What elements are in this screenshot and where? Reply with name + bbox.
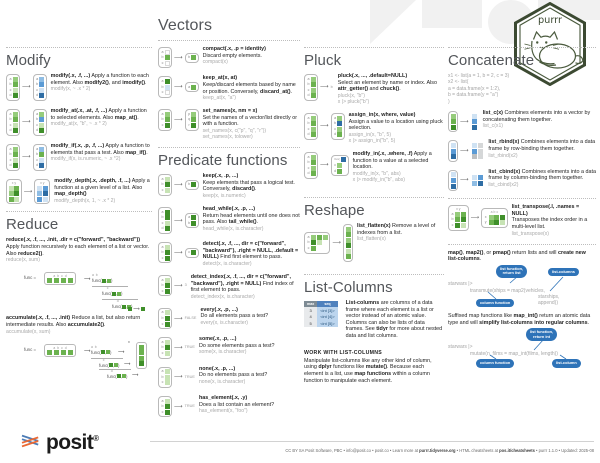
entry-modify: abcd ⟶ abcd modify(.x, .f, ...) Apply a …: [6, 73, 152, 101]
fn-desc: Do some elements pass a test?: [199, 343, 275, 349]
diagram-modify-in: abcd ⟶ fun(cd: [304, 151, 349, 179]
figure-out-label: x: [128, 339, 130, 345]
entry-text: modify_at(.x, .at, .f, ...) Apply a func…: [51, 108, 152, 127]
fn-signature: modify(.x, .f, ...): [51, 73, 91, 79]
fn-example-2: x |> modify_in("b", abs): [353, 177, 444, 183]
diagram-list-transpose: xy a b c ⟶ abc x y: [448, 204, 508, 230]
fn-signature: list_cbind(x): [488, 169, 520, 175]
fn-desc: Do no elements pass a test?: [199, 372, 267, 378]
entry-text: has_element(.x, .y)Does a list contain a…: [199, 395, 300, 414]
fn-desc: Set the names of a vector/list directly …: [203, 115, 297, 128]
concatenate-preamble: x1 <- list(a = 1, b = 2, c = 3) x2 <- li…: [448, 73, 596, 105]
fn-signature: list_c(x): [483, 110, 503, 116]
fn-example: modify_if(x, is.numeric, ~ .x *2): [51, 156, 152, 162]
entry-text: detect(.x, .f, ..., dir = c("forward", "…: [203, 241, 300, 267]
fn-signature: set_names(x, nm = x): [203, 108, 258, 114]
diagram-every: abc ⟶ FALSE: [158, 307, 196, 329]
diagram-output: TRUE: [185, 404, 195, 409]
entry-text: list_c(x) Combines elements into a vecto…: [483, 110, 596, 129]
fn-signature: list_rbind(x): [488, 139, 519, 145]
fn-example: modify_at(x, "b", ~ .x * 2): [51, 121, 152, 127]
entry-list-cbind: ⟶ list_cbind(x) Combines elements into a…: [448, 169, 596, 191]
arrow-icon: ⟶: [174, 84, 183, 90]
entry-detect: abc ⟶ c detect(.x, .f, ..., dir = c("for…: [158, 241, 300, 267]
arrow-icon: ⟶: [471, 215, 480, 221]
section-title-vectors: Vectors: [158, 18, 300, 33]
fn-desc2: .: [104, 322, 106, 328]
fn-desc2: .: [255, 186, 257, 192]
fn-example-2: set_names(x, tolower): [203, 134, 300, 140]
footer-license: CC BY SA Posit Software, PBC: [285, 448, 342, 453]
fn-desc2: .: [291, 89, 293, 95]
fn-example: list_c(x1): [483, 123, 596, 129]
fn-example: head_while(x, is.character): [203, 226, 300, 232]
table-row: 5 <int [5]>: [304, 320, 338, 327]
divider: [158, 147, 300, 148]
diagram-list-flatten: a b c ⟶: [304, 223, 353, 262]
work-text-2: functions like: [332, 364, 366, 370]
fn-ref: reduce2(): [18, 251, 42, 257]
fn-example: modify_depth(x, 1, ~ .x * 2): [54, 198, 152, 204]
fn-signature: list_flatten(x): [357, 223, 391, 229]
cell-max: 4: [304, 314, 317, 321]
arrow-icon: ⟶: [460, 177, 469, 183]
entry-modify-at: abcd ⟶ abcd modify_at(.x, .at, .f, ...) …: [6, 108, 152, 136]
fn-signature: pluck(.x, ..., .default=NULL): [338, 73, 407, 79]
diagram-detect-index: abc ⟶ 3: [158, 274, 187, 296]
entry-text: modify_depth(.x, .depth, .f, ...) Apply …: [54, 178, 152, 204]
fn-example: none(x, is.character): [199, 379, 300, 385]
listcolumns-table: max seq 3 <int [3]> 4 <int [4]> 5 <int […: [304, 301, 338, 327]
diagram-detect: abc ⟶ c: [158, 241, 199, 263]
fn-example: reduce(x, sum): [6, 257, 152, 263]
term-dplyr: dplyr: [318, 364, 331, 370]
entry-pluck: abcd ⟶ b pluck(.x, ..., .default=NULL)Se…: [304, 73, 444, 105]
term-mutate: mutate(): [366, 364, 387, 370]
footer-divider: [150, 441, 594, 442]
arrow-icon: ⟶: [174, 345, 183, 351]
work-with-listcolumns-text: Manipulate list-columns like any other k…: [304, 358, 444, 385]
fn-ref: tail_while(): [229, 219, 257, 225]
fn-desc: Transposes the index order in a multi-le…: [512, 217, 588, 230]
entry-list-transpose: xy a b c ⟶ abc x y list_transpose(.l, .n…: [448, 204, 596, 236]
fn-desc2: .: [137, 115, 139, 121]
diagram-set-names: abc ⟶ pqr: [158, 108, 199, 130]
term-map-functions: map functions: [354, 371, 391, 377]
entry-listcolumns-intro: max seq 3 <int [3]> 4 <int [4]> 5 <int […: [304, 300, 444, 340]
term-listcolumns: List-columns: [346, 300, 380, 306]
fn-example: list_flatten(x): [357, 236, 444, 242]
arrow-icon: ⟶: [24, 189, 33, 195]
fn-desc: Do all elements pass a test?: [200, 313, 268, 319]
listcolumns-table-wrap: max seq 3 <int [3]> 4 <int [4]> 5 <int […: [304, 300, 338, 327]
fn-signature: reduce(.x, .f, ..., .init, .dir = c("for…: [6, 237, 140, 243]
lead2-t1: Suffixed map functions like: [448, 313, 514, 319]
divider: [304, 274, 444, 275]
diagram-modify-at: abcd ⟶ abcd: [6, 108, 47, 136]
entry-head-while: abcd ⟶ ab head_while(.x, .p, ...)Return …: [158, 206, 300, 234]
diagram-keep-at: abc ⟶ a: [158, 75, 199, 97]
arrow-icon: ⟶: [22, 84, 31, 90]
fn-ref: map_at(): [115, 115, 137, 121]
footer-learn-prefix: Learn more at: [393, 448, 420, 453]
diagram-none: abc ⟶ TRUE: [158, 366, 195, 388]
maplc-example-1: list function, return list list-columns …: [448, 265, 596, 311]
posit-logo: posit®: [20, 428, 98, 453]
cell-max: 5: [304, 320, 317, 327]
footer-html-url[interactable]: pos.it/cheatsheets: [499, 448, 535, 453]
arrow-icon: ⟶: [174, 218, 183, 224]
diagram-list-cbind: ⟶: [448, 169, 484, 191]
fn-signature: every(.x, .p, ...): [200, 307, 237, 313]
fn-desc: Does a list contain an element?: [199, 402, 274, 408]
entry-accumulate: accumulate(.x, .f, ..., .init) Reduce a …: [6, 315, 152, 335]
fn-example: list_cbind(x2): [488, 182, 596, 188]
cell-seq: <int [5]>: [317, 320, 337, 327]
fn-desc2: .: [146, 150, 148, 156]
section-title-modify: Modify: [6, 53, 152, 68]
diagram-pluck: abcd ⟶ b: [304, 73, 334, 101]
entry-has-element: abc ⟶ TRUE has_element(.x, .y)Does a lis…: [158, 395, 300, 417]
entry-text: modify(.x, .f, ...) Apply a function to …: [51, 73, 152, 92]
entry-text: modify_if(.x, .p, .f, ...) Apply a funct…: [51, 143, 152, 162]
cell-max: 3: [304, 307, 317, 314]
arrow-icon: ⟶: [460, 119, 469, 125]
divider: [448, 47, 596, 48]
term-simplify-listcolumns: simplify list-columns into regular colum…: [479, 320, 587, 326]
fn-signature: some(.x, .p, ...): [199, 336, 236, 342]
fn-desc2: , and: [109, 80, 123, 86]
entry-text: list_cbind(x) Combines elements into a d…: [488, 169, 596, 188]
diagram-has-element: abc ⟶ TRUE: [158, 395, 195, 417]
entry-list-rbind: ⟶ list_rbind(x) Combines elements into a…: [448, 139, 596, 161]
entry-text: some(.x, .p, ...)Do some elements pass a…: [199, 336, 300, 355]
maplc-lead-text: map(), map2(), or pmap() return lists an…: [448, 250, 596, 263]
term-map-int: map_int(): [514, 313, 538, 319]
entry-every: abc ⟶ FALSE every(.x, .p, ...)Do all ele…: [158, 307, 300, 329]
divider: [6, 211, 152, 212]
cheatsheet-page: purrr Modify abcd ⟶ ab: [0, 0, 600, 463]
divider: [304, 47, 444, 48]
entry-modify-if: abcd ⟶ abcd modify_if(.x, .p, .f, ...) A…: [6, 143, 152, 171]
arrow-icon: ⟶: [174, 283, 183, 289]
lead2-t3: .: [588, 320, 590, 326]
entry-text: modify_in(.x, .where, .f) Apply a functi…: [353, 151, 444, 183]
entry-compact: abc ⟶ b compact(.x, .p = identity)Discar…: [158, 46, 300, 68]
preamble-line-5: ): [448, 99, 450, 105]
maplc-example-2: list function, return int starwars |> mu…: [448, 328, 596, 368]
entry-text: keep(.x, .p, ...)Keep elements that pass…: [203, 173, 300, 199]
lead-t2: , or: [483, 250, 492, 256]
entry-text: none(.x, .p, ...)Do no elements pass a t…: [199, 366, 300, 385]
footer-site[interactable]: posit.co: [375, 448, 389, 453]
entry-assign-in: abcd ⟶ abcd assign_in(x, where, value)As…: [304, 112, 444, 144]
fn-desc: Find first element to pass.: [219, 254, 282, 260]
fn-ref: map_depth(): [54, 191, 86, 197]
fn-ref: modify2(): [84, 80, 108, 86]
hex-label: purrr: [538, 15, 563, 26]
entry-text: detect_index(.x, .f, ..., dir = c("forwa…: [191, 274, 300, 300]
term-pmap: pmap(): [493, 250, 511, 256]
section-title-pluck: Pluck: [304, 53, 444, 68]
diagram-output: TRUE: [185, 345, 195, 350]
entry-none: abc ⟶ TRUE none(.x, .p, ...)Do no elemen…: [158, 366, 300, 388]
fn-example: detect_index(x, is.character): [191, 294, 300, 300]
arrow-icon: ⟶: [174, 182, 183, 188]
subheading-work-with-list-columns: WORK WITH LIST-COLUMNS: [304, 350, 444, 356]
fn-example: detect(x, is.character): [203, 261, 300, 267]
entry-text: keep_at(x, at)Keep/discard elements base…: [203, 75, 300, 101]
footer-updated: Updated: 2025-08: [561, 448, 594, 453]
column-concatenate-maplc: Concatenate x1 <- list(a = 1, b = 2, c =…: [448, 40, 596, 368]
entry-text: compact(.x, .p = identity)Discard empty …: [203, 46, 300, 65]
divider: [448, 198, 596, 199]
diagram-accumulate: func = abcd ⟶ a bfunc(,) ⟶ cfunc(,) ⟶ df…: [6, 337, 152, 379]
fn-signature: list_transpose(.l, .names = NULL): [512, 204, 580, 217]
arrow-icon: ⟶: [22, 119, 31, 125]
fn-example: every(x, is.character): [200, 320, 300, 326]
fn-desc2: .: [42, 251, 44, 257]
fn-signature: compact(.x, .p = identity): [203, 46, 266, 52]
arrow-icon: ⟶: [460, 148, 469, 154]
fn-ref: discard(): [232, 186, 255, 192]
arrow-icon: ⟶: [22, 154, 31, 160]
preamble-line-4: b = data.frame(y = "a"): [448, 92, 498, 98]
arrow-icon: ⟶: [174, 404, 183, 410]
diagram-modify-if: abcd ⟶ abcd: [6, 143, 47, 171]
fn-ref: attr_getter(): [338, 86, 368, 92]
fn-example: list_rbind(x2): [488, 153, 596, 159]
fn-signature: keep_at(x, at): [203, 75, 237, 81]
fn-ref2: chuck(): [380, 86, 399, 92]
diagram-some: abc ⟶ TRUE: [158, 336, 195, 358]
fn-signature: modify_if(.x, .p, .f, ...): [51, 143, 105, 149]
fn-signature: modify_in(.x, .where, .f): [353, 151, 413, 157]
fn-desc: Discard empty elements.: [203, 53, 262, 59]
fn-ref: discard_at(): [260, 89, 291, 95]
term-map2: map2(): [466, 250, 484, 256]
entry-reduce: reduce(.x, .f, ..., .init, .dir = c("for…: [6, 237, 152, 263]
bubble-leader-lines: [448, 328, 596, 368]
footer-email[interactable]: info@posit.co: [346, 448, 371, 453]
arrow-icon: ⟶: [174, 374, 183, 380]
fn-desc: Assign a value to a location using pluck…: [349, 119, 443, 132]
diagram-head-while: abcd ⟶ ab: [158, 206, 199, 234]
diagram-list-rbind: ⟶: [448, 139, 484, 161]
preamble-line-1: x1 <- list(a = 1, b = 2, c = 3): [448, 73, 509, 79]
column-pluck-reshape-listcolumns: Pluck abcd ⟶ b pluck(.x, ..., .default=N…: [304, 40, 444, 384]
arrow-icon: ⟶: [174, 250, 183, 256]
fn-desc2: .: [257, 219, 259, 225]
entry-text: head_while(.x, .p, ...)Return head eleme…: [203, 206, 300, 232]
preamble-line-3: a = data.frame(x = 1:2),: [448, 86, 500, 92]
diagram-output: TRUE: [185, 375, 195, 380]
footer-text: CC BY SA Posit Software, PBC • info@posi…: [285, 448, 594, 454]
divider: [448, 244, 596, 245]
footer-html-prefix: HTML cheatsheets at: [459, 448, 499, 453]
section-title-reduce: Reduce: [6, 217, 152, 232]
diagram-output: 3: [185, 283, 187, 288]
fn-example: modify(x, ~ .x * 2): [51, 86, 152, 92]
entry-text: list_flatten(x) Remove a level of indexe…: [357, 223, 444, 242]
fn-desc3: .: [399, 86, 401, 92]
fn-example: accumulate(x, sum): [6, 329, 152, 335]
fn-signature: has_element(.x, .y): [199, 395, 247, 401]
arrow-icon: ⟶: [320, 123, 329, 129]
section-title-reshape: Reshape: [304, 203, 444, 218]
fn-example-2: x |> assign_in("b", 5): [349, 138, 444, 144]
bubble-leader-lines: [448, 265, 596, 311]
table-row: 3 <int [3]>: [304, 307, 338, 314]
fn-desc2: and: [368, 86, 380, 92]
entry-detect-index: abc ⟶ 3 detect_index(.x, .f, ..., dir = …: [158, 274, 300, 300]
fn-example: has_element(x, "foo"): [199, 408, 300, 414]
fn-ref: accumulate2(): [68, 322, 104, 328]
fn-signature: keep(.x, .p, ...): [203, 173, 239, 179]
fn-signature: head_while(.x, .p, ...): [203, 206, 255, 212]
section-title-predicate: Predicate functions: [158, 153, 300, 168]
diagram-keep: abc ⟶ b: [158, 173, 199, 195]
term-tidyr: tidyr: [376, 326, 388, 332]
posit-mark-icon: [20, 432, 42, 450]
fn-example: some(x, is.character): [199, 349, 300, 355]
arrow-icon: ⟶: [174, 117, 183, 123]
table-row: 4 <int [4]>: [304, 314, 338, 321]
lead-t4: .: [480, 256, 482, 262]
preamble-line-2: x2 <- list(: [448, 79, 468, 85]
fn-example: list_transpose(x): [512, 231, 596, 237]
footer-version: purrr 1.1.0: [539, 448, 558, 453]
posit-trademark: ®: [93, 434, 98, 443]
diagram-compact: abc ⟶ b: [158, 46, 199, 68]
term-map: map(): [448, 250, 463, 256]
entry-list-flatten: a b c ⟶ list_flatten(x) Remove a level o…: [304, 223, 444, 262]
fn-ref: map_if(): [125, 150, 146, 156]
entry-modify-in: abcd ⟶ fun(cd modify_in(.x, .where, .f) …: [304, 151, 444, 183]
entry-text: pluck(.x, ..., .default=NULL)Select an e…: [338, 73, 444, 105]
fn-example: compact(x): [203, 59, 300, 65]
fn-example: keep(x, is.numeric): [203, 193, 300, 199]
section-title-listcolumns: List-Columns: [304, 280, 444, 295]
cell-seq: <int [4]>: [317, 314, 337, 321]
diagram-modify: abcd ⟶ abcd: [6, 73, 47, 101]
diagram-list-c: ⟶: [448, 110, 479, 132]
diagram-reduce: func = abcd ⟶ a bfunc(,) cfunc(,) dfunc(…: [6, 265, 152, 311]
fn-example-2: x |> pluck("b"): [338, 99, 444, 105]
arrow-icon: ⟶: [174, 55, 183, 61]
fn-signature: none(.x, .p, ...): [199, 366, 235, 372]
entry-modify-depth: xy ⟶ xy modify_depth(.x, .depth, .f, ...…: [6, 178, 152, 204]
diagram-modify-depth: xy ⟶ xy: [6, 178, 50, 204]
fn-example: keep_at(x, "a"): [203, 95, 300, 101]
entry-text: every(.x, .p, ...)Do all elements pass a…: [200, 307, 300, 326]
fn-desc3: .: [145, 80, 147, 86]
posit-word-text: posit: [46, 431, 93, 454]
divider: [158, 40, 300, 41]
fn-desc: Select an element by name or index. Also: [338, 80, 437, 86]
footer-learn-url[interactable]: purrr.tidyverse.org: [419, 448, 455, 453]
entry-some: abc ⟶ TRUE some(.x, .p, ...)Do some elem…: [158, 336, 300, 358]
arrow-icon: ⟶: [320, 162, 329, 168]
arrow-icon: ⟶: [332, 240, 341, 246]
divider: [6, 47, 152, 48]
posit-wordmark: posit®: [46, 428, 98, 453]
diagram-assign-in: abcd ⟶ abcd: [304, 112, 345, 140]
section-title-concatenate: Concatenate: [448, 53, 596, 68]
entry-list-c: ⟶ list_c(x) Combines elements into a vec…: [448, 110, 596, 132]
column-vectors-predicates: Vectors abc ⟶ b compact(.x, .p = identit…: [158, 18, 300, 424]
fn-signature: assign_in(x, where, value): [349, 112, 416, 118]
fn-signature: modify_depth(.x, .depth, .f, ...): [54, 178, 130, 184]
column-modify-reduce: Modify abcd ⟶ abcd modify(.x, .f, ...) A…: [6, 40, 152, 383]
fn-signature: modify_at(.x, .at, .f, ...): [51, 108, 108, 114]
diagram-output: FALSE: [185, 316, 197, 321]
entry-text: set_names(x, nm = x)Set the names of a v…: [203, 108, 300, 140]
entry-text: list_rbind(x) Combines elements into a d…: [488, 139, 596, 158]
divider: [304, 197, 444, 198]
fn-signature: accumulate(.x, .f, ..., .init): [6, 315, 70, 321]
entry-text: assign_in(x, where, value)Assign a value…: [349, 112, 444, 144]
listcolumns-description: List-columns are columns of a data frame…: [346, 300, 444, 340]
entry-set-names: abc ⟶ pqr set_names(x, nm = x)Set the na…: [158, 108, 300, 140]
maplc-lead-text-2: Suffixed map functions like map_int() re…: [448, 313, 596, 326]
fn-ref2: imodify(): [122, 80, 145, 86]
cell-seq: <int [3]>: [317, 307, 337, 314]
page-footer: posit® CC BY SA Posit Software, PBC • in…: [0, 415, 600, 459]
lead-t3: return lists and will: [511, 250, 558, 256]
entry-keep-at: abc ⟶ a keep_at(x, at)Keep/discard eleme…: [158, 75, 300, 101]
arrow-icon: ⟶: [174, 316, 183, 322]
entry-text: list_transpose(.l, .names = NULL)Transpo…: [512, 204, 596, 236]
arrow-icon: ⟶: [320, 84, 329, 90]
entry-keep: abc ⟶ b keep(.x, .p, ...)Keep elements t…: [158, 173, 300, 199]
